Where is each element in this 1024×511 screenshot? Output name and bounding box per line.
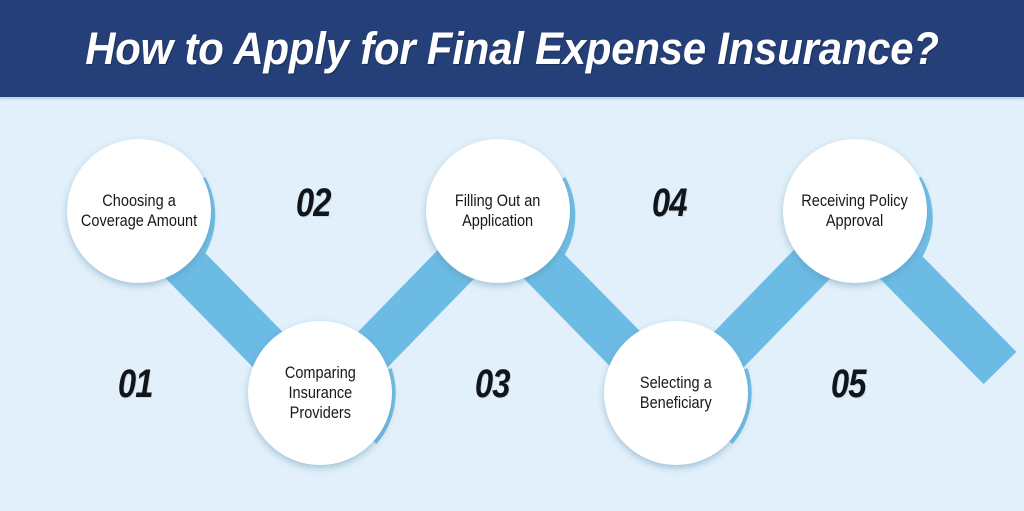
step-label-05: Receiving Policy Approval (798, 191, 912, 231)
step-circle-03[interactable]: Filling Out an Application (426, 139, 570, 283)
step-number-04: 04 (652, 181, 687, 226)
step-circle-01[interactable]: Choosing a Coverage Amount (67, 139, 211, 283)
infographic-canvas: How to Apply for Final Expense Insurance… (0, 0, 1024, 511)
step-circle-04[interactable]: Selecting a Beneficiary (604, 321, 748, 465)
step-number-01: 01 (118, 362, 153, 407)
step-number-03: 03 (475, 362, 510, 407)
step-label-01: Choosing a Coverage Amount (77, 191, 200, 231)
step-label-03: Filling Out an Application (452, 191, 545, 231)
step-label-02: Comparing Insurance Providers (281, 363, 359, 423)
step-number-05: 05 (831, 362, 866, 407)
step-number-02: 02 (296, 181, 331, 226)
step-circle-05[interactable]: Receiving Policy Approval (783, 139, 927, 283)
step-circle-02[interactable]: Comparing Insurance Providers (248, 321, 392, 465)
step-label-04: Selecting a Beneficiary (637, 373, 716, 413)
